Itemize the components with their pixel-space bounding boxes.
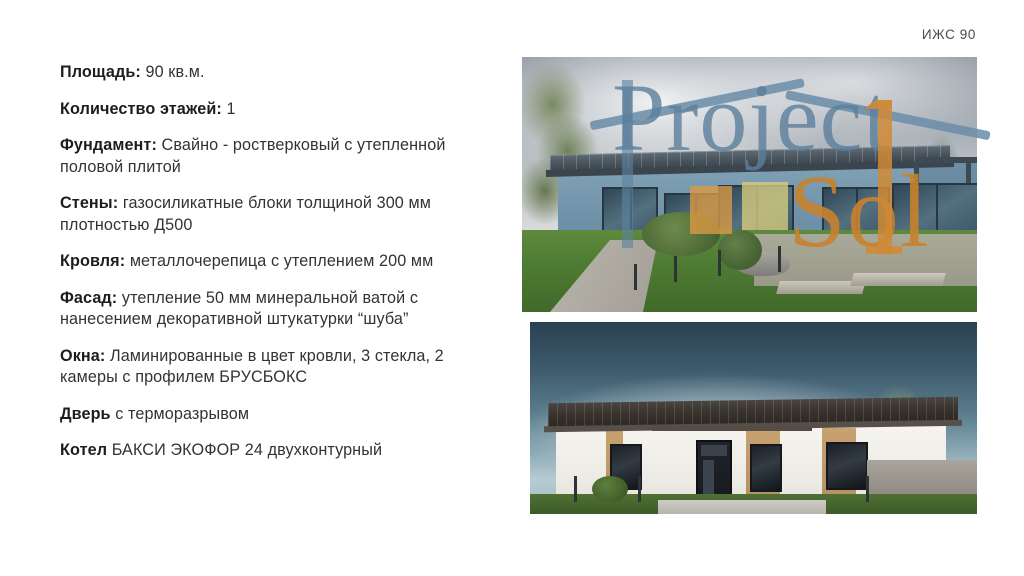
spec-key: Фундамент: [60,136,157,154]
shrub [592,476,628,502]
low-wall [867,460,977,498]
window [750,444,782,492]
house-render-facade-white [530,322,977,514]
spec-row: Котел БАКСИ ЭКОФОР 24 двухконтурный [60,440,500,462]
spec-key: Количество этажей: [60,100,222,118]
garden-lamp [638,476,641,502]
spec-value: 1 [222,100,236,118]
spec-key: Окна: [60,347,105,365]
garden-lamp [634,264,637,290]
spec-key: Дверь [60,405,111,423]
specification-list: Площадь: 90 кв.м. Количество этажей: 1 Ф… [60,62,500,462]
spec-row: Кровля: металлочерепица с утеплением 200… [60,251,500,273]
spec-row: Дверь с терморазрывом [60,404,500,426]
garden-lamp [574,476,577,502]
spec-value: металлочерепица с утеплением 200 мм [125,252,433,270]
spec-key: Стены: [60,194,118,212]
spec-value: Ламинированные в цвет кровли, 3 стекла, … [60,347,444,387]
window [826,442,868,490]
spec-value: БАКСИ ЭКОФОР 24 двухконтурный [107,441,382,459]
spec-value: 90 кв.м. [141,63,205,81]
door-transom [701,445,727,456]
shrub [718,230,762,270]
house-render-exterior-teal [522,57,977,312]
spec-row: Фундамент: Свайно - ростверковый с утепл… [60,135,500,178]
garden-lamp [674,256,677,282]
slide-root: { "header": { "label": "ИЖС 90" }, "logo… [0,0,1024,576]
shrub [642,212,720,256]
sun-lounger [850,273,946,286]
spec-row: Площадь: 90 кв.м. [60,62,500,84]
garden-lamp [866,476,869,502]
spec-row: Фасад: утепление 50 мм минеральной ватой… [60,288,500,331]
spec-key: Площадь: [60,63,141,81]
garden-lamp [778,246,781,272]
garden-lamp [718,250,721,276]
gutter [652,426,812,431]
spec-value: с терморазрывом [111,405,250,423]
entrance-steps [658,500,826,514]
spec-row: Стены: газосиликатные блоки толщиной 300… [60,193,500,236]
spec-key: Фасад: [60,289,117,307]
spec-row: Окна: Ламинированные в цвет кровли, 3 ст… [60,346,500,389]
spec-row: Количество этажей: 1 [60,99,500,121]
page-title: ИЖС 90 [922,27,976,42]
spec-key: Кровля: [60,252,125,270]
spec-key: Котел [60,441,107,459]
